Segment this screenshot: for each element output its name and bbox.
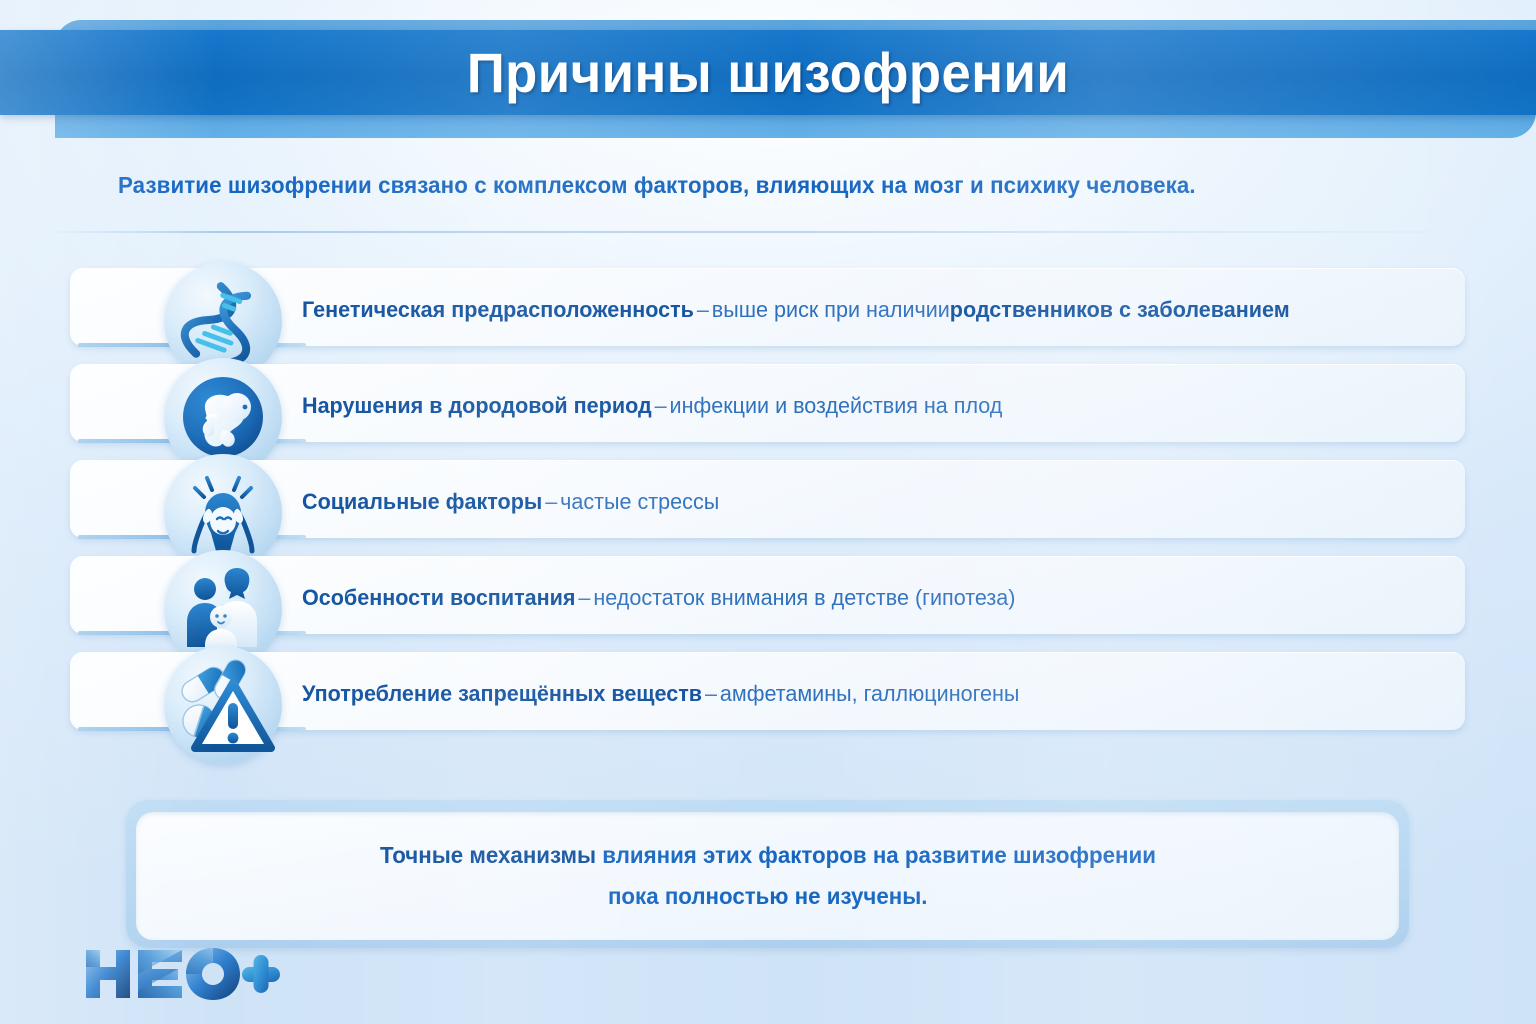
intro-divider — [44, 231, 1492, 233]
factor-detail: амфетамины, галлюциногены — [720, 681, 1019, 707]
list-item[interactable]: Употребление запрещённых веществ – амфет… — [0, 646, 1536, 742]
factor-title: Нарушения в дородовой период — [302, 393, 652, 419]
factor-title: Генетическая предрасположенность — [302, 297, 694, 323]
factor-title: Особенности воспитания — [302, 585, 575, 611]
factor-text: Употребление запрещённых веществ – амфет… — [302, 646, 1019, 742]
note-line-1: Точные механизмы влияния этих факторов н… — [380, 842, 1156, 869]
factor-dash: – — [542, 489, 560, 515]
factor-detail: инфекции и воздействия на плод — [670, 393, 1003, 419]
factor-title: Социальные факторы — [302, 489, 542, 515]
list-item[interactable]: Особенности воспитания – недостаток вним… — [0, 550, 1536, 646]
factor-dash: – — [652, 393, 670, 419]
factor-text: Генетическая предрасположенность – выше … — [302, 262, 1290, 358]
intro-text: Развитие шизофрении связано с комплексом… — [118, 172, 1379, 199]
logo-neo-plus[interactable] — [82, 944, 282, 1004]
page-title: Причины шизофрении — [46, 30, 1490, 115]
list-item[interactable]: Генетическая предрасположенность – выше … — [0, 262, 1536, 358]
factor-dash: – — [702, 681, 720, 707]
factor-text: Социальные факторы – частые стрессы — [302, 454, 719, 550]
note-emphasis: Точные механизмы — [380, 842, 596, 868]
header: Причины шизофрении — [0, 0, 1536, 142]
factor-text: Особенности воспитания – недостаток вним… — [302, 550, 1015, 646]
factor-detail-emphasis: родственников с заболеванием — [950, 297, 1290, 323]
pills-warning-icon — [164, 646, 282, 764]
note-line-1-rest: влияния этих факторов на развитие шизофр… — [596, 842, 1156, 868]
factor-detail: частые стрессы — [560, 489, 719, 515]
factor-dash: – — [694, 297, 712, 323]
factor-title: Употребление запрещённых веществ — [302, 681, 702, 707]
note-panel: Точные механизмы влияния этих факторов н… — [136, 812, 1399, 940]
factor-dash: – — [575, 585, 593, 611]
note-line-2: пока полностью не изучены. — [608, 883, 928, 910]
factor-detail: выше риск при наличии — [712, 297, 950, 323]
list-item[interactable]: Нарушения в дородовой период – инфекции … — [0, 358, 1536, 454]
factor-list: Генетическая предрасположенность – выше … — [0, 262, 1536, 742]
infographic-canvas: Причины шизофрении Развитие шизофрении с… — [0, 0, 1536, 1024]
factor-text: Нарушения в дородовой период – инфекции … — [302, 358, 1002, 454]
list-item[interactable]: Социальные факторы – частые стрессы — [0, 454, 1536, 550]
factor-detail: недостаток внимания в детстве (гипотеза) — [593, 585, 1015, 611]
